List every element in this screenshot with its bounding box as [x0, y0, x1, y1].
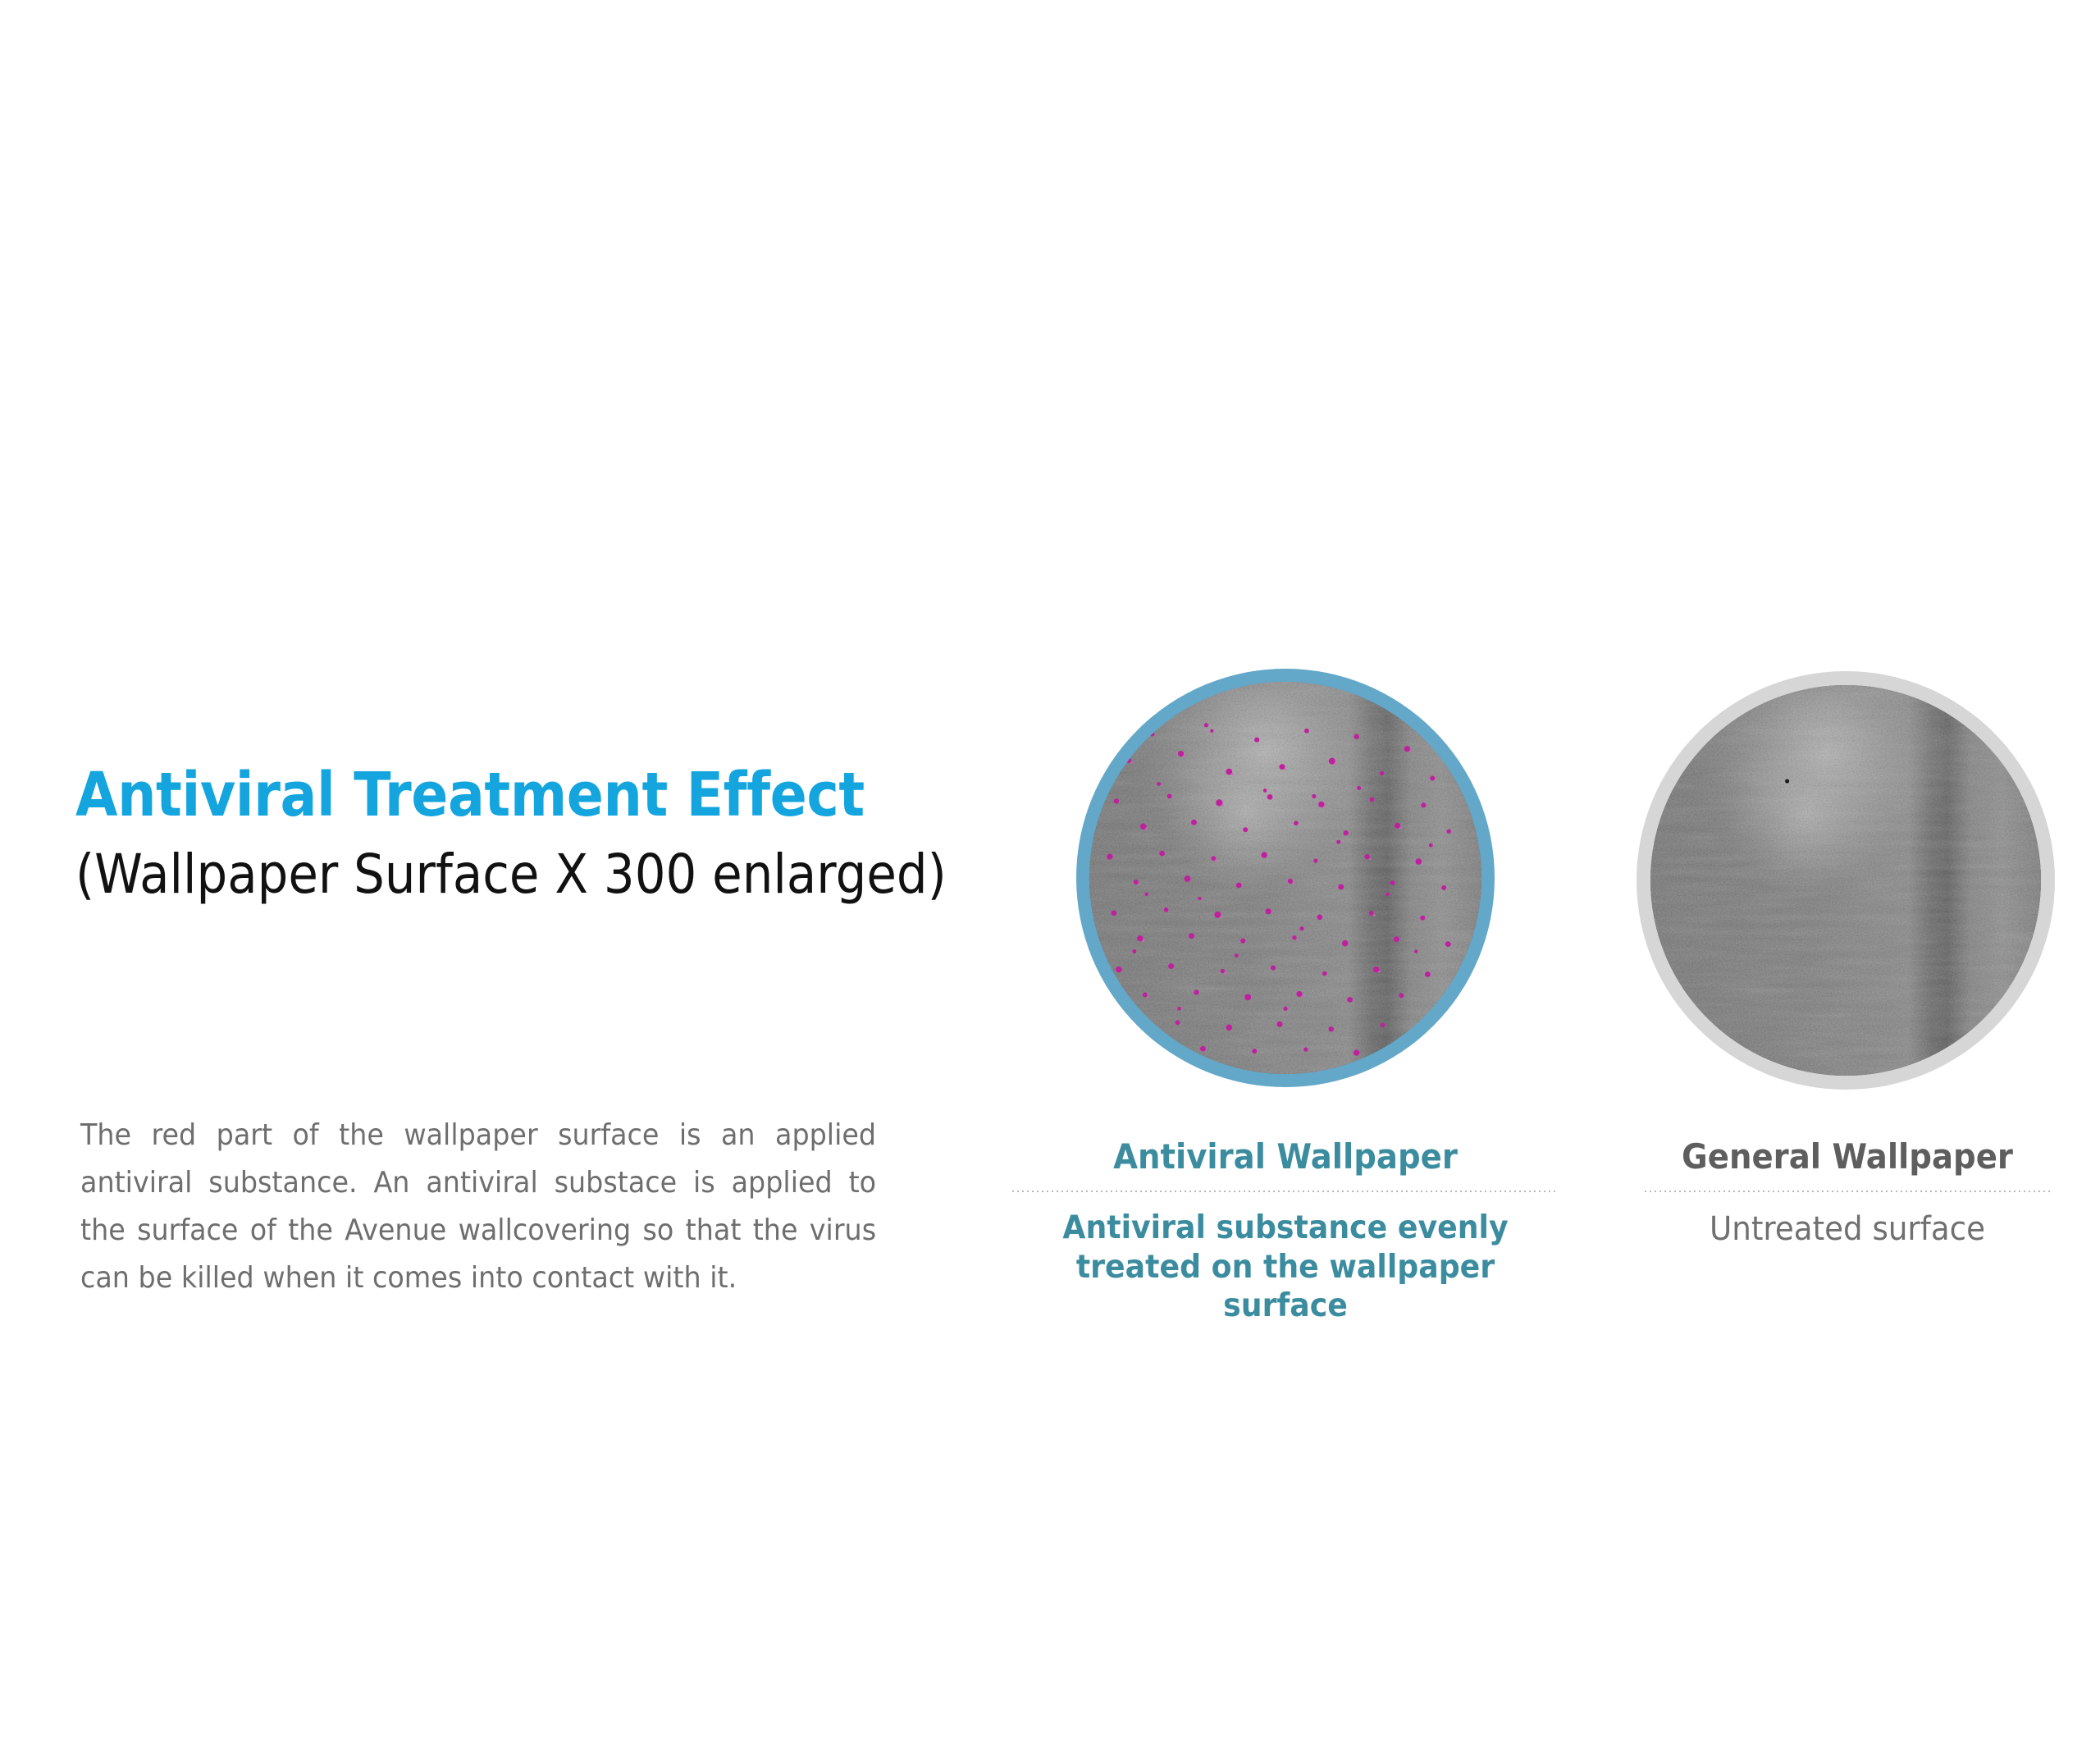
antiviral-caption-divider: [1012, 1191, 1559, 1192]
antiviral-caption-title: Antiviral Wallpaper: [1034, 1137, 1537, 1176]
antiviral-wallpaper-image-ring: [1076, 669, 1495, 1087]
general-micrograph-mask: [1650, 685, 2041, 1076]
antiviral-micrograph: [1089, 682, 1481, 1074]
general-caption-subtext: Untreated surface: [1659, 1209, 2035, 1250]
description-text: The red part of the wallpaper surface is…: [80, 1112, 876, 1302]
general-caption-title: General Wallpaper: [1661, 1137, 2034, 1176]
headline-group: Antiviral Treatment Effect (Wallpaper Su…: [75, 763, 945, 905]
page-subtitle: (Wallpaper Surface X 300 enlarged): [75, 845, 858, 905]
antiviral-treatment-slide: { "headline": { "title": "Antiviral Trea…: [0, 0, 2100, 1746]
general-caption-divider: [1645, 1191, 2050, 1192]
antiviral-caption-block: Antiviral Wallpaper Antiviral substance …: [1012, 1137, 1559, 1326]
general-micrograph: [1650, 685, 2041, 1076]
antiviral-caption-subtext: Antiviral substance evenly treated on th…: [1031, 1209, 1539, 1326]
page-title: Antiviral Treatment Effect: [75, 763, 858, 827]
description-block: The red part of the wallpaper surface is…: [80, 1112, 876, 1302]
antiviral-micrograph-mask: [1089, 682, 1481, 1074]
general-wallpaper-image-ring: [1637, 671, 2055, 1090]
general-caption-block: General Wallpaper Untreated surface: [1645, 1137, 2050, 1250]
